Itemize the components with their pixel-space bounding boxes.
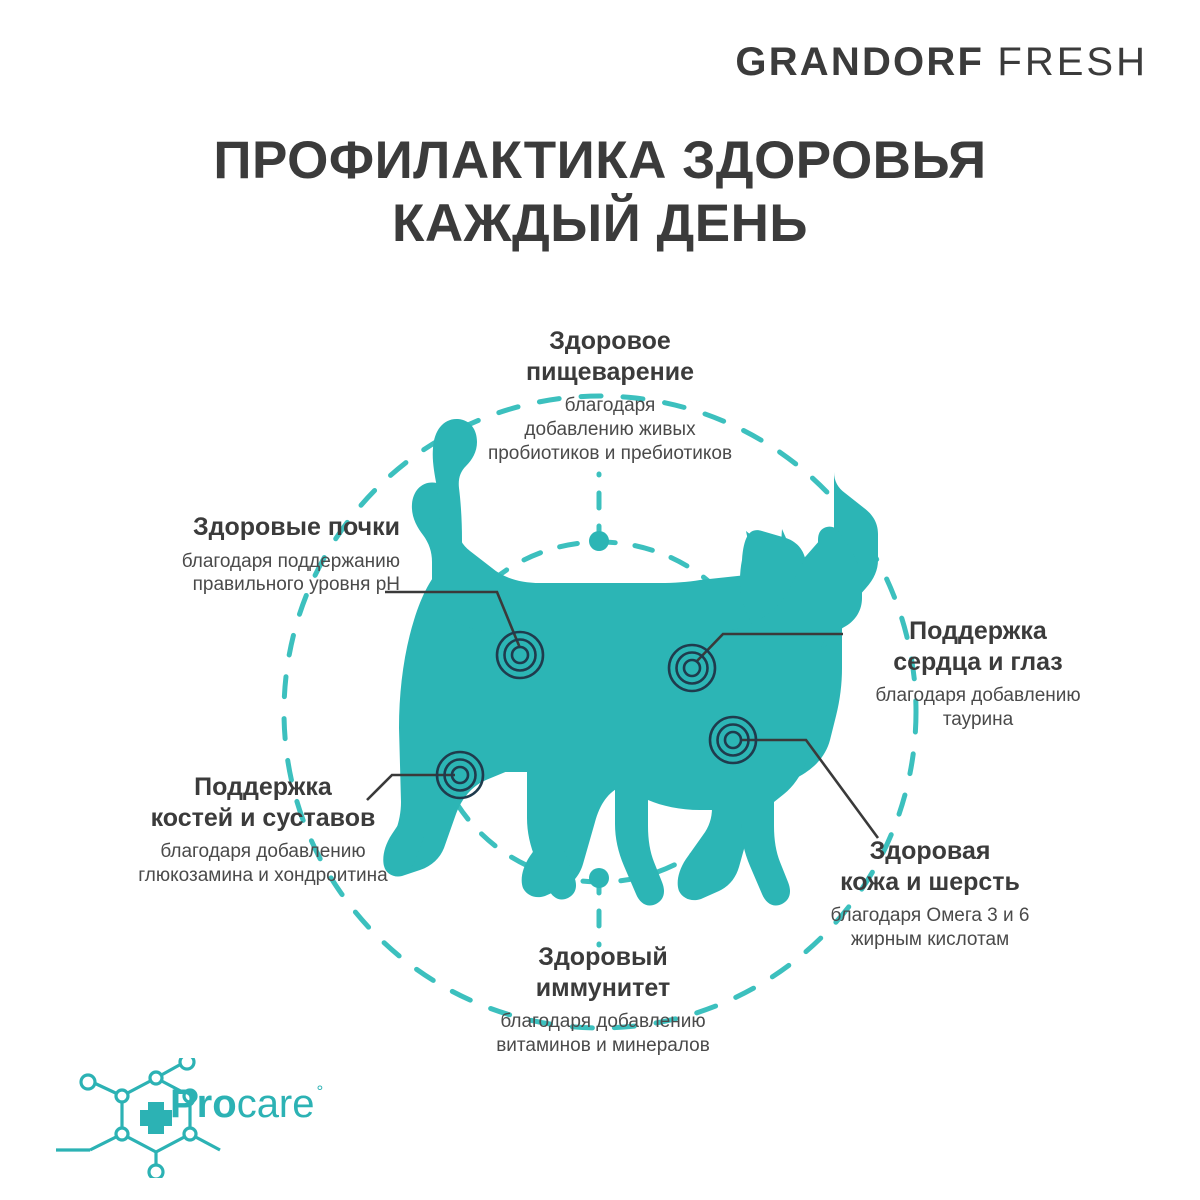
callout-immunity: Здоровый иммунитет благодаря добавлению … xyxy=(408,942,798,1058)
procare-wordmark: Procare° xyxy=(170,1084,321,1124)
procare-word-light: care xyxy=(237,1082,315,1126)
callout-bones-desc: благодаря добавлению глюкозамина и хондр… xyxy=(98,840,428,888)
dot-immunity[interactable] xyxy=(589,868,609,888)
infographic-page: GRANDORF FRESH ПРОФИЛАКТИКА ЗДОРОВЬЯ КАЖ… xyxy=(0,0,1200,1200)
callout-heart: Поддержка сердца и глаз благодаря добавл… xyxy=(818,616,1138,732)
callout-digestion-title: Здоровое пищеварение xyxy=(410,326,810,387)
callout-bones: Поддержка костей и суставов благодаря до… xyxy=(98,772,428,888)
callout-kidneys-desc: благодаря поддержанию правильного уровня… xyxy=(100,550,400,598)
callout-bones-title: Поддержка костей и суставов xyxy=(98,772,428,833)
callout-heart-desc: благодаря добавлению таурина xyxy=(818,684,1138,732)
callout-skin-desc: благодаря Омега 3 и 6 жирным кислотам xyxy=(770,904,1090,952)
callout-skin: Здоровая кожа и шерсть благодаря Омега 3… xyxy=(770,836,1090,952)
callout-digestion: Здоровое пищеварение благодаря добавлени… xyxy=(410,326,810,466)
callout-kidneys-title: Здоровые почки xyxy=(100,512,400,543)
callout-heart-title: Поддержка сердца и глаз xyxy=(818,616,1138,677)
callout-kidneys: Здоровые почки благодаря поддержанию пра… xyxy=(100,512,400,597)
callout-skin-title: Здоровая кожа и шерсть xyxy=(770,836,1090,897)
procare-word-strong: Pro xyxy=(170,1082,237,1126)
callout-immunity-title: Здоровый иммунитет xyxy=(408,942,798,1003)
procare-degree: ° xyxy=(317,1082,324,1101)
dot-digestion[interactable] xyxy=(589,531,609,551)
callout-immunity-desc: благодаря добавлению витаминов и минерал… xyxy=(408,1010,798,1058)
callout-digestion-desc: благодаря добавлению живых пробиотиков и… xyxy=(410,394,810,466)
